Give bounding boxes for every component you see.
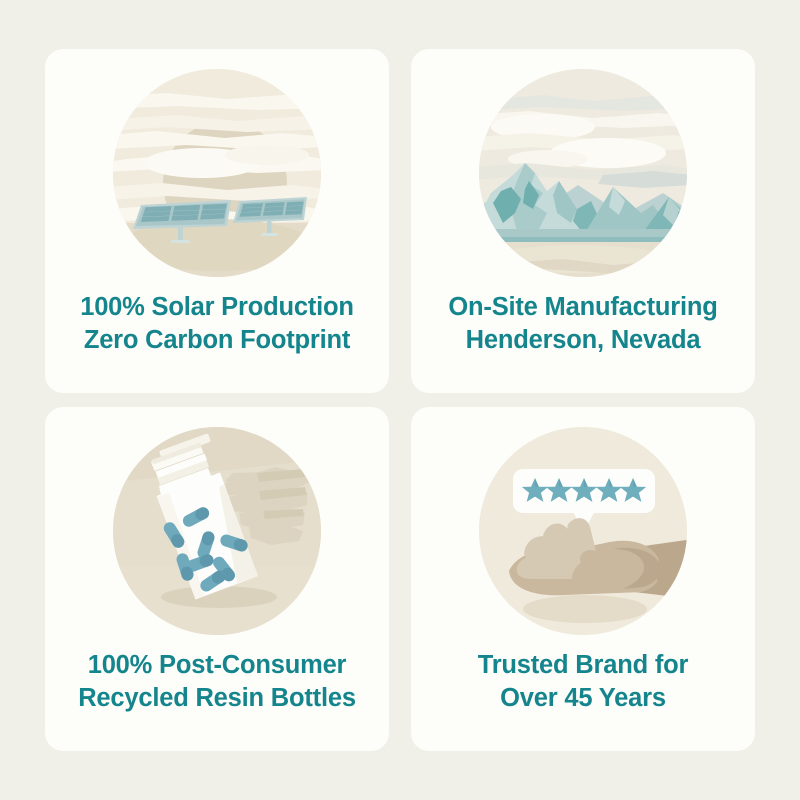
caption-line-2: Henderson, Nevada [421,324,745,357]
feature-card-caption: On-Site Manufacturing Henderson, Nevada [421,291,745,356]
caption-line-1: 100% Solar Production [80,293,354,321]
feature-card-solar-production[interactable]: 100% Solar Production Zero Carbon Footpr… [45,49,389,393]
caption-line-1: On-Site Manufacturing [448,293,717,321]
caption-line-1: Trusted Brand for [478,651,689,679]
feature-card-grid: 100% Solar Production Zero Carbon Footpr… [0,0,800,800]
feature-card-recycled-resin-bottles[interactable]: 100% Post-Consumer Recycled Resin Bottle… [45,407,389,751]
feature-card-caption: 100% Solar Production Zero Carbon Footpr… [55,291,379,356]
caption-line-2: Recycled Resin Bottles [55,682,379,715]
pill-bottle-icon [107,421,327,641]
solar-panels-icon [107,63,327,283]
caption-line-2: Over 45 Years [421,682,745,715]
hand-with-five-stars-icon [473,421,693,641]
feature-card-caption: Trusted Brand for Over 45 Years [421,649,745,714]
feature-card-caption: 100% Post-Consumer Recycled Resin Bottle… [55,649,379,714]
feature-card-trusted-brand[interactable]: Trusted Brand for Over 45 Years [411,407,755,751]
mountain-landscape-icon [473,63,693,283]
caption-line-2: Zero Carbon Footprint [55,324,379,357]
caption-line-1: 100% Post-Consumer [88,651,347,679]
feature-card-on-site-manufacturing[interactable]: On-Site Manufacturing Henderson, Nevada [411,49,755,393]
